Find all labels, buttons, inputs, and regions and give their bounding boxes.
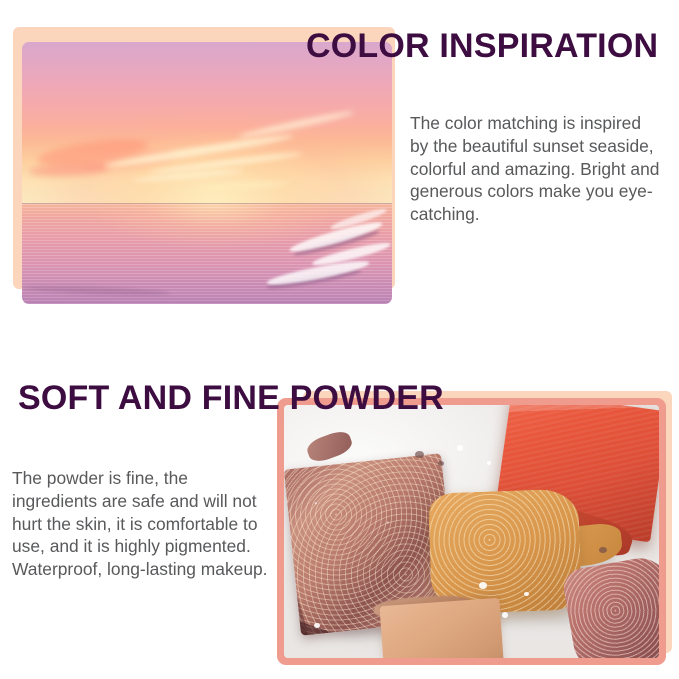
sun-glow: [22, 42, 392, 204]
powder-speck: [479, 582, 487, 589]
powder-photo-inner-frame: [284, 405, 659, 658]
body-text-soft-and-fine-powder: The powder is fine, the ingredients are …: [12, 467, 270, 580]
powder-speck: [502, 612, 508, 618]
powder-speck-dark: [599, 547, 607, 553]
powder-speck: [487, 461, 492, 465]
powder-swatch-photo: [277, 398, 666, 665]
rose-glitter-pan: [561, 554, 659, 658]
powder-speck: [524, 592, 529, 596]
sunset-illustration: [22, 42, 392, 304]
powder-speck-dark: [438, 461, 444, 466]
powder-speck: [457, 445, 463, 451]
body-text-color-inspiration: The color matching is inspired by the be…: [410, 112, 660, 225]
product-infographic-page: COLOR INSPIRATION: [0, 0, 679, 679]
sunset-seaside-photo: [22, 42, 392, 304]
nude-matte-pan: [379, 598, 504, 658]
page-title-color-inspiration: COLOR INSPIRATION: [306, 27, 658, 66]
powder-speck: [314, 623, 320, 628]
page-title-soft-and-fine-powder: SOFT AND FINE POWDER: [18, 379, 444, 418]
